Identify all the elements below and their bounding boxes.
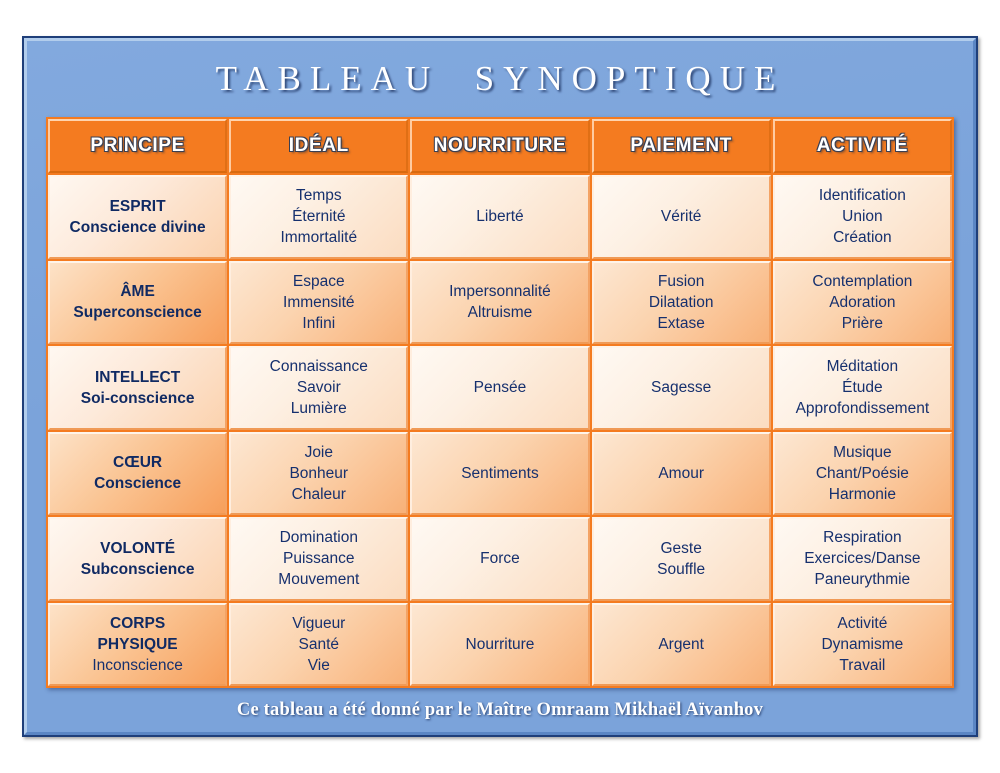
caption-bar: Ce tableau a été donné par le Maître Omr… bbox=[27, 688, 973, 732]
cell-activite: ContemplationAdorationPrière bbox=[773, 261, 952, 345]
cell-line: Espace bbox=[231, 271, 406, 292]
cell-line: CŒUR bbox=[50, 452, 225, 473]
cell-principe: ESPRITConscience divine bbox=[48, 175, 227, 259]
column-header-label: NOURRITURE bbox=[434, 135, 567, 157]
column-header-label: PAIEMENT bbox=[630, 135, 732, 157]
cell-line: Santé bbox=[231, 634, 406, 655]
cell-principe: CORPSPHYSIQUEInconscience bbox=[48, 603, 227, 687]
table-header: PRINCIPE IDÉAL NOURRITURE PAIEMENT ACTIV bbox=[48, 119, 952, 173]
cell-line: PHYSIQUE bbox=[50, 634, 225, 655]
cell-line: Union bbox=[775, 206, 950, 227]
cell-ideal: JoieBonheurChaleur bbox=[229, 432, 408, 516]
cell-ideal: DominationPuissanceMouvement bbox=[229, 517, 408, 601]
cell-line: Immensité bbox=[231, 292, 406, 313]
cell-line: Conscience divine bbox=[50, 217, 225, 238]
cell-line: Vie bbox=[231, 655, 406, 676]
cell-principe: INTELLECTSoi-conscience bbox=[48, 346, 227, 430]
cell-line: Superconscience bbox=[50, 302, 225, 323]
cell-line: Soi-conscience bbox=[50, 388, 225, 409]
cell-line: Dynamisme bbox=[775, 634, 950, 655]
cell-activite: MéditationÉtudeApprofondissement bbox=[773, 346, 952, 430]
cell-paiement: Amour bbox=[592, 432, 771, 516]
cell-nourriture: Nourriture bbox=[410, 603, 589, 687]
cell-nourriture: ImpersonnalitéAltruisme bbox=[410, 261, 589, 345]
cell-line: Contemplation bbox=[775, 271, 950, 292]
cell-line: Connaissance bbox=[231, 356, 406, 377]
cell-paiement: Sagesse bbox=[592, 346, 771, 430]
poster-panel: TABLEAU SYNOPTIQUE PRINCIPE IDÉAL NOURRI… bbox=[24, 38, 976, 735]
cell-line: Liberté bbox=[412, 206, 587, 227]
cell-line: Chant/Poésie bbox=[775, 463, 950, 484]
column-header-label: IDÉAL bbox=[289, 135, 349, 157]
cell-paiement: Vérité bbox=[592, 175, 771, 259]
cell-line: Lumière bbox=[231, 398, 406, 419]
cell-line: Adoration bbox=[775, 292, 950, 313]
cell-line: Domination bbox=[231, 527, 406, 548]
cell-nourriture: Liberté bbox=[410, 175, 589, 259]
cell-activite: MusiqueChant/PoésieHarmonie bbox=[773, 432, 952, 516]
page-title: TABLEAU SYNOPTIQUE bbox=[216, 59, 785, 99]
poster-frame: TABLEAU SYNOPTIQUE PRINCIPE IDÉAL NOURRI… bbox=[22, 36, 978, 737]
cell-line: Geste bbox=[594, 538, 769, 559]
cell-activite: RespirationExercices/DansePaneurythmie bbox=[773, 517, 952, 601]
cell-line: Altruisme bbox=[412, 302, 587, 323]
cell-line: Approfondissement bbox=[775, 398, 950, 419]
cell-ideal: VigueurSantéVie bbox=[229, 603, 408, 687]
cell-line: Nourriture bbox=[412, 634, 587, 655]
cell-ideal: TempsÉternitéImmortalité bbox=[229, 175, 408, 259]
cell-line: Étude bbox=[775, 377, 950, 398]
table-body: ESPRITConscience divineTempsÉternitéImmo… bbox=[48, 175, 952, 686]
cell-line: Création bbox=[775, 227, 950, 248]
cell-nourriture: Pensée bbox=[410, 346, 589, 430]
column-header-label: ACTIVITÉ bbox=[817, 135, 908, 157]
cell-line: Vérité bbox=[594, 206, 769, 227]
cell-nourriture: Sentiments bbox=[410, 432, 589, 516]
cell-ideal: EspaceImmensitéInfini bbox=[229, 261, 408, 345]
column-header-ideal: IDÉAL bbox=[229, 119, 408, 173]
cell-line: Subconscience bbox=[50, 559, 225, 580]
cell-line: Pensée bbox=[412, 377, 587, 398]
cell-line: Infini bbox=[231, 313, 406, 334]
cell-line: Amour bbox=[594, 463, 769, 484]
cell-line: CORPS bbox=[50, 613, 225, 634]
cell-line: Inconscience bbox=[50, 655, 225, 676]
cell-line: Respiration bbox=[775, 527, 950, 548]
column-header-paiement: PAIEMENT bbox=[592, 119, 771, 173]
table-row: VOLONTÉSubconscienceDominationPuissanceM… bbox=[48, 517, 952, 601]
cell-line: Musique bbox=[775, 442, 950, 463]
column-header-label: PRINCIPE bbox=[90, 135, 185, 157]
cell-line: Sagesse bbox=[594, 377, 769, 398]
cell-line: Vigueur bbox=[231, 613, 406, 634]
table-row: ESPRITConscience divineTempsÉternitéImmo… bbox=[48, 175, 952, 259]
cell-principe: ÂMESuperconscience bbox=[48, 261, 227, 345]
cell-nourriture: Force bbox=[410, 517, 589, 601]
table-row: ÂMESuperconscienceEspaceImmensitéInfiniI… bbox=[48, 261, 952, 345]
cell-line: Temps bbox=[231, 185, 406, 206]
cell-line: Exercices/Danse bbox=[775, 548, 950, 569]
column-header-principe: PRINCIPE bbox=[48, 119, 227, 173]
cell-line: Méditation bbox=[775, 356, 950, 377]
attribution-caption: Ce tableau a été donné par le Maître Omr… bbox=[237, 700, 763, 721]
cell-line: Force bbox=[412, 548, 587, 569]
cell-line: Harmonie bbox=[775, 484, 950, 505]
cell-line: Impersonnalité bbox=[412, 281, 587, 302]
cell-line: Joie bbox=[231, 442, 406, 463]
cell-principe: VOLONTÉSubconscience bbox=[48, 517, 227, 601]
cell-paiement: Argent bbox=[592, 603, 771, 687]
synoptic-table: PRINCIPE IDÉAL NOURRITURE PAIEMENT ACTIV bbox=[46, 117, 954, 688]
cell-line: Souffle bbox=[594, 559, 769, 580]
column-header-nourriture: NOURRITURE bbox=[410, 119, 589, 173]
table-row: INTELLECTSoi-conscienceConnaissanceSavoi… bbox=[48, 346, 952, 430]
title-bar: TABLEAU SYNOPTIQUE bbox=[27, 41, 973, 117]
cell-line: Activité bbox=[775, 613, 950, 634]
cell-paiement: FusionDilatationExtase bbox=[592, 261, 771, 345]
cell-activite: IdentificationUnionCréation bbox=[773, 175, 952, 259]
cell-line: ÂME bbox=[50, 281, 225, 302]
cell-line: Conscience bbox=[50, 473, 225, 494]
cell-line: Immortalité bbox=[231, 227, 406, 248]
cell-line: Argent bbox=[594, 634, 769, 655]
cell-line: Paneurythmie bbox=[775, 569, 950, 590]
cell-line: Sentiments bbox=[412, 463, 587, 484]
header-row: PRINCIPE IDÉAL NOURRITURE PAIEMENT ACTIV bbox=[48, 119, 952, 173]
cell-activite: ActivitéDynamismeTravail bbox=[773, 603, 952, 687]
cell-line: Éternité bbox=[231, 206, 406, 227]
cell-line: ESPRIT bbox=[50, 196, 225, 217]
cell-ideal: ConnaissanceSavoirLumière bbox=[229, 346, 408, 430]
cell-line: Savoir bbox=[231, 377, 406, 398]
cell-line: VOLONTÉ bbox=[50, 538, 225, 559]
cell-line: Travail bbox=[775, 655, 950, 676]
cell-principe: CŒURConscience bbox=[48, 432, 227, 516]
column-header-activite: ACTIVITÉ bbox=[773, 119, 952, 173]
cell-line: INTELLECT bbox=[50, 367, 225, 388]
cell-line: Bonheur bbox=[231, 463, 406, 484]
cell-line: Dilatation bbox=[594, 292, 769, 313]
cell-line: Identification bbox=[775, 185, 950, 206]
table-container: PRINCIPE IDÉAL NOURRITURE PAIEMENT ACTIV bbox=[46, 117, 954, 688]
cell-line: Chaleur bbox=[231, 484, 406, 505]
cell-line: Extase bbox=[594, 313, 769, 334]
table-row: CŒURConscienceJoieBonheurChaleurSentimen… bbox=[48, 432, 952, 516]
cell-line: Mouvement bbox=[231, 569, 406, 590]
cell-line: Prière bbox=[775, 313, 950, 334]
cell-paiement: GesteSouffle bbox=[592, 517, 771, 601]
cell-line: Puissance bbox=[231, 548, 406, 569]
cell-line: Fusion bbox=[594, 271, 769, 292]
table-row: CORPSPHYSIQUEInconscienceVigueurSantéVie… bbox=[48, 603, 952, 687]
